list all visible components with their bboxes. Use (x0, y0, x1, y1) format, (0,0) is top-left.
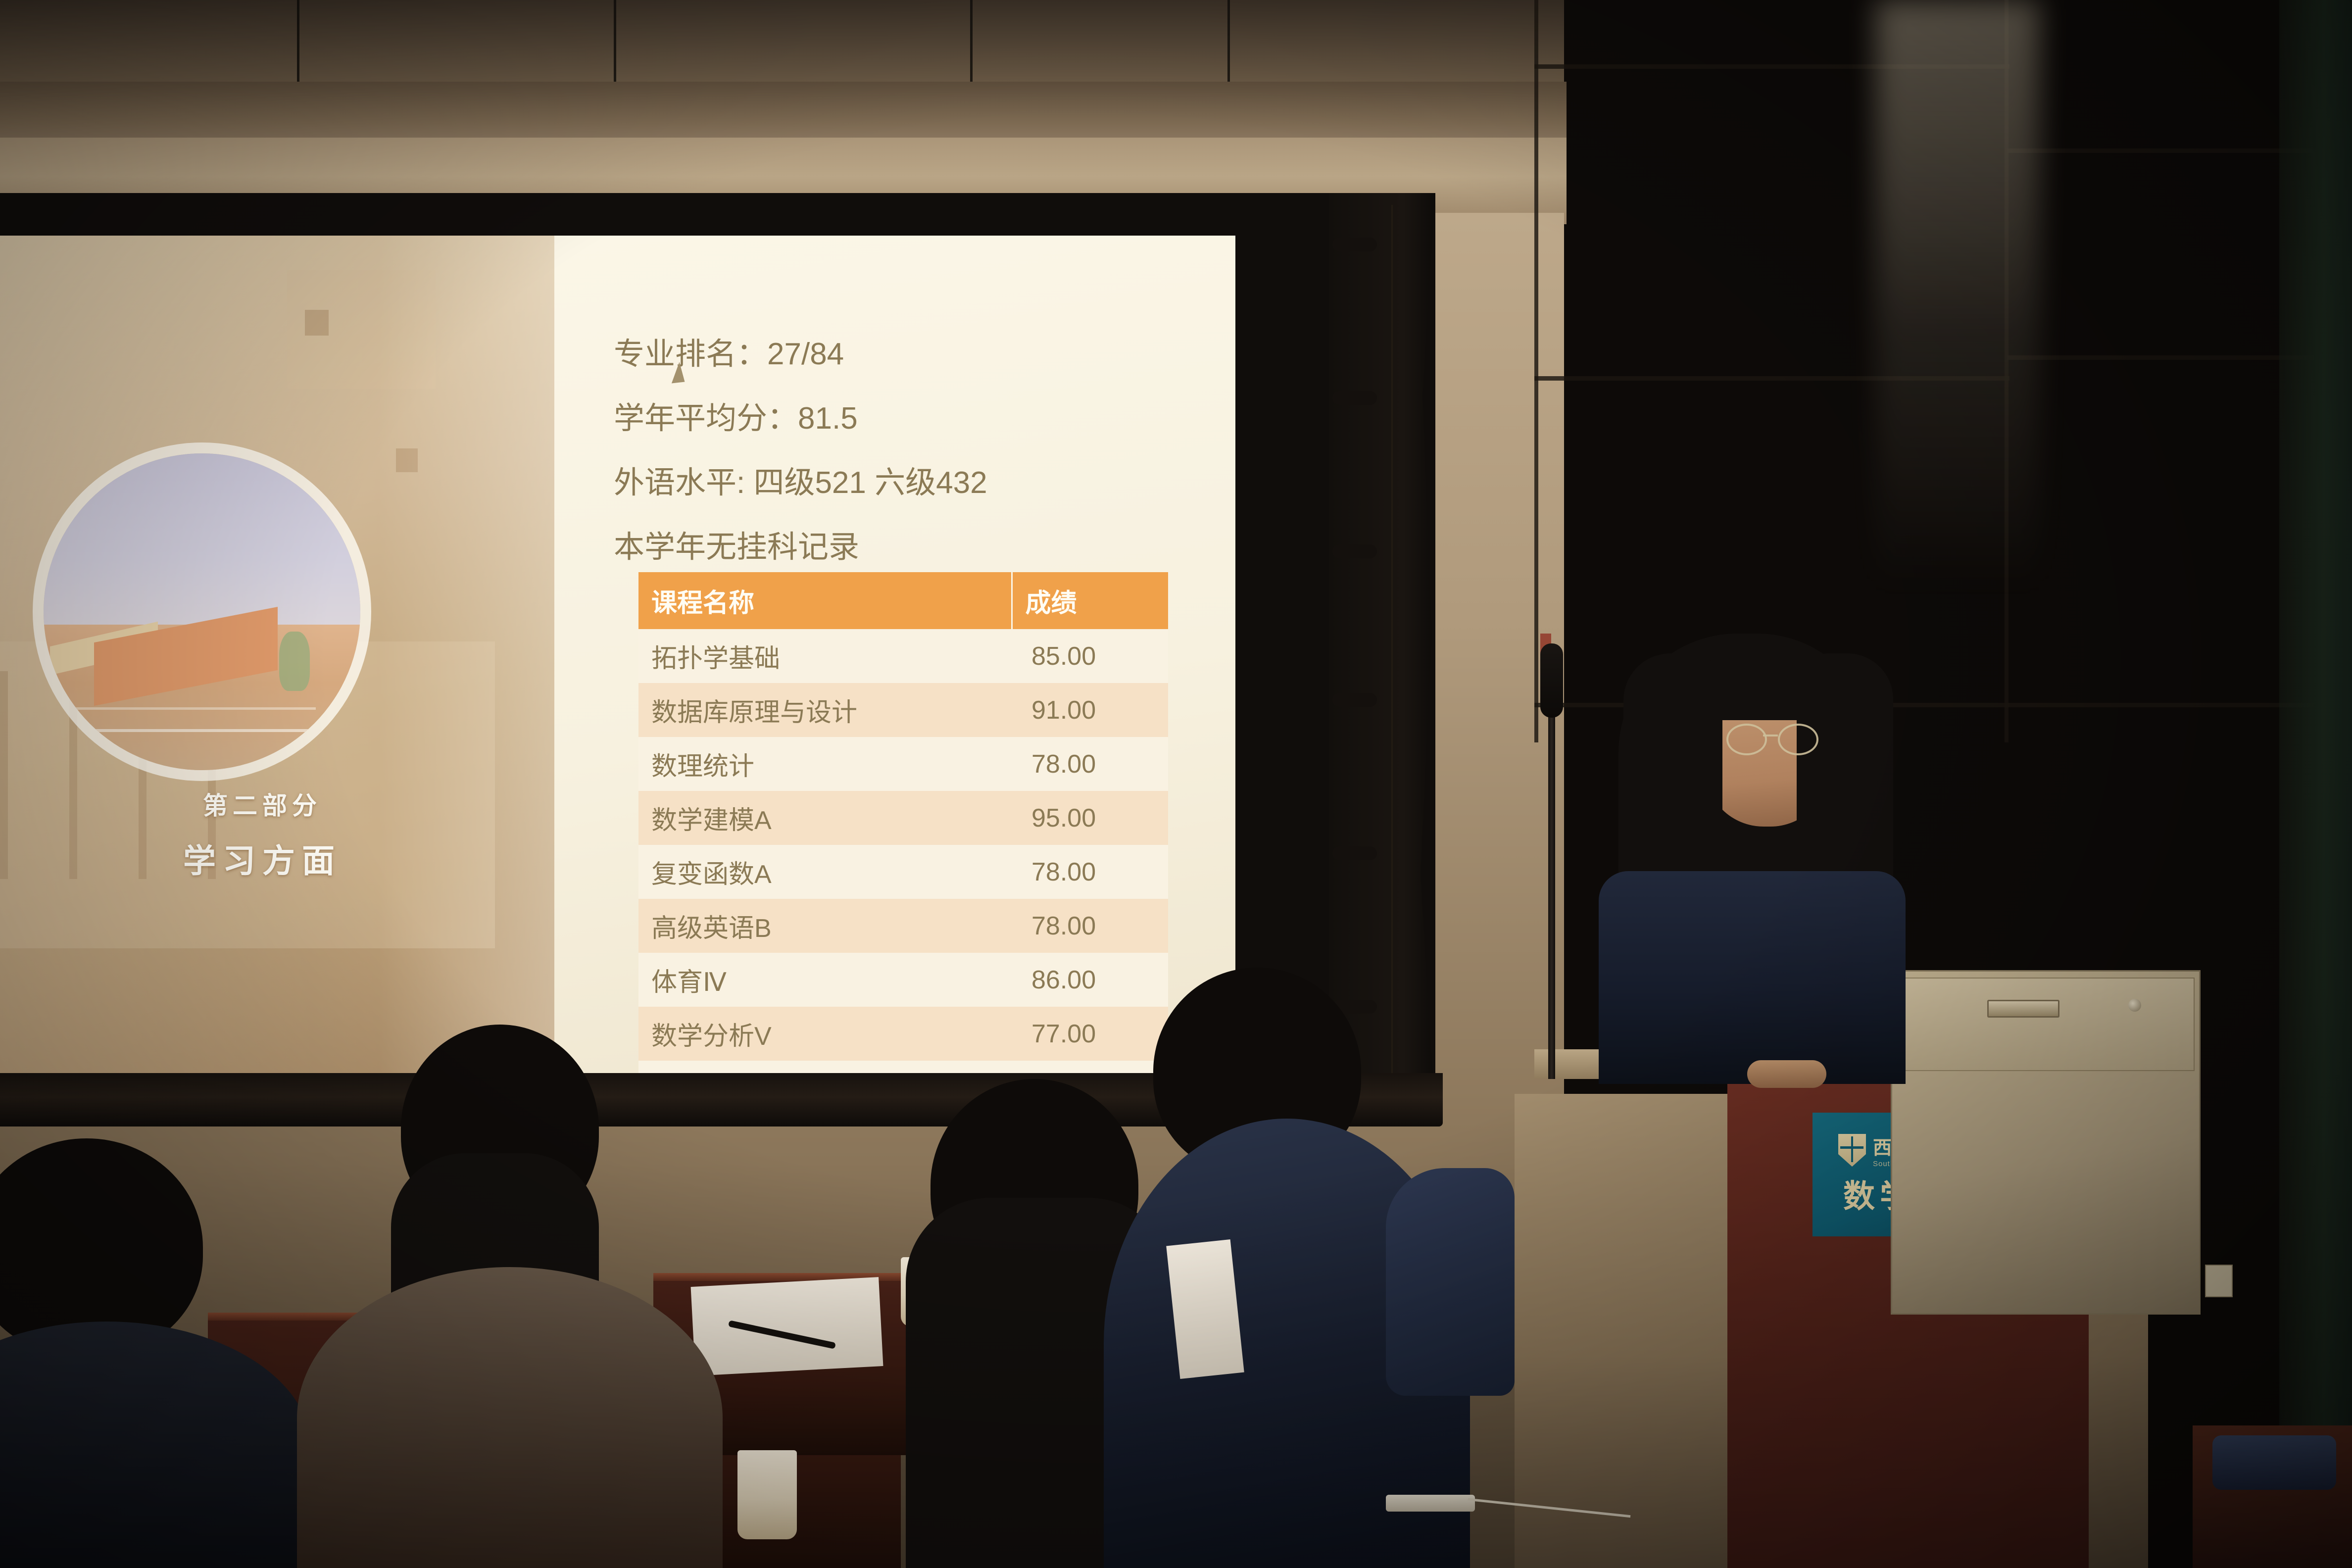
photo-sky (44, 453, 360, 631)
ceiling-seam (1227, 0, 1230, 89)
table-row: 高级英语B78.00 (638, 899, 1168, 953)
cell-score: 85.00 (1012, 629, 1168, 683)
circular-campus-photo (44, 453, 360, 770)
paper-sheet (691, 1277, 883, 1376)
cell-course: 体育Ⅳ (638, 953, 1012, 1007)
glasses-lens (1726, 724, 1767, 755)
wall-light-spill (1876, 0, 2039, 742)
glasses-bridge (1763, 735, 1778, 736)
ceiling-seam (970, 0, 973, 89)
university-crest-icon (1838, 1134, 1866, 1167)
wall-panel-line (2007, 148, 2314, 153)
ceiling-band (0, 82, 1567, 141)
wall-panel-line (1534, 0, 1538, 742)
cell-score: 78.00 (1012, 899, 1168, 953)
wall-panel-line (2007, 703, 2314, 707)
ceiling (0, 0, 1564, 89)
slide-line-major-rank: 专业排名：27/84 (614, 329, 844, 373)
cell-score: 78.00 (1012, 845, 1168, 899)
screenshot-root: 第二部分 学习方面 专业排名：27/84 学年平均分：81.5 外语水平: 四级… (0, 0, 2352, 1568)
presenter-jacket (1599, 871, 1906, 1084)
cabinet-door-panel[interactable] (1896, 978, 2195, 1071)
power-strip (1386, 1495, 1475, 1512)
cell-course: 复变函数A (638, 845, 1012, 899)
presenter-hand (1747, 1060, 1826, 1088)
cell-score: 78.00 (1012, 737, 1168, 791)
screen-tab (1332, 391, 1377, 405)
wall-panel-line (2007, 355, 2314, 360)
table-row: 数学分析V77.00 (638, 1007, 1168, 1061)
grades-table: 课程名称 成绩 拓扑学基础85.00 数据库原理与设计91.00 数理统计78.… (638, 572, 1168, 1077)
ceiling-seam (614, 0, 616, 89)
wall-power-socket (2205, 1265, 2233, 1297)
screen-tension-tabs (1318, 208, 1377, 1099)
cell-score: 91.00 (1012, 683, 1168, 737)
table-row: 拓扑学基础85.00 (638, 629, 1168, 683)
table-row: 体育Ⅳ86.00 (638, 953, 1168, 1007)
slide-line-gpa: 学年平均分：81.5 (614, 393, 858, 438)
screen-tension-cord (1391, 205, 1393, 1101)
slide-section-number: 第二部分 (0, 786, 554, 822)
cabinet-handle-icon[interactable] (1987, 1000, 2059, 1018)
wall-corner-shadow (2279, 0, 2352, 1568)
glasses-icon (1726, 724, 1814, 751)
photo-railing (62, 729, 335, 732)
grades-table-body: 拓扑学基础85.00 数据库原理与设计91.00 数理统计78.00 数学建模A… (638, 629, 1168, 1077)
cell-score: 95.00 (1012, 791, 1168, 845)
table-row: 数学建模A95.00 (638, 791, 1168, 845)
column-header-score: 成绩 (1012, 572, 1168, 629)
cell-course: 数学分析V (638, 1007, 1012, 1061)
cell-course: 高级英语B (638, 899, 1012, 953)
table-header-row: 课程名称 成绩 (638, 572, 1168, 629)
cell-course: 数理统计 (638, 737, 1012, 791)
slide-section-title: 学习方面 (0, 834, 554, 882)
cell-course: 数学建模A (638, 791, 1012, 845)
audience-raised-arm (1386, 1168, 1515, 1396)
microphone-stand (1548, 658, 1555, 1079)
audience-shoulders (297, 1267, 723, 1568)
slide: 第二部分 学习方面 专业排名：27/84 学年平均分：81.5 外语水平: 四级… (0, 236, 1235, 1077)
screen-tab (1332, 238, 1377, 251)
bag-on-desk (2212, 1435, 2336, 1490)
column-header-course: 课程名称 (638, 572, 1012, 629)
table-row: 数理统计78.00 (638, 737, 1168, 791)
cell-course: 拓扑学基础 (638, 629, 1012, 683)
paper-cup (737, 1450, 797, 1539)
table-row: 复变函数A78.00 (638, 845, 1168, 899)
slide-line-language: 外语水平: 四级521 六级432 (614, 457, 987, 502)
photo-railing (75, 707, 316, 710)
projected-slide-surface: 第二部分 学习方面 专业排名：27/84 学年平均分：81.5 外语水平: 四级… (0, 236, 1235, 1077)
slide-line-no-failures: 本学年无挂科记录 (614, 522, 859, 566)
cell-score: 77.00 (1012, 1007, 1168, 1061)
cabinet-screw-icon (2128, 999, 2141, 1012)
screen-tab (1332, 544, 1377, 558)
screen-tab (1332, 846, 1377, 860)
photo-tree (279, 632, 310, 691)
presenter (1599, 634, 1906, 1079)
cell-score: 86.00 (1012, 953, 1168, 1007)
glasses-lens (1778, 724, 1818, 755)
cell-course: 数据库原理与设计 (638, 683, 1012, 737)
screen-tab (1332, 693, 1377, 707)
microphone-icon (1540, 643, 1563, 718)
ceiling-seam (297, 0, 299, 89)
table-row: 数据库原理与设计91.00 (638, 683, 1168, 737)
